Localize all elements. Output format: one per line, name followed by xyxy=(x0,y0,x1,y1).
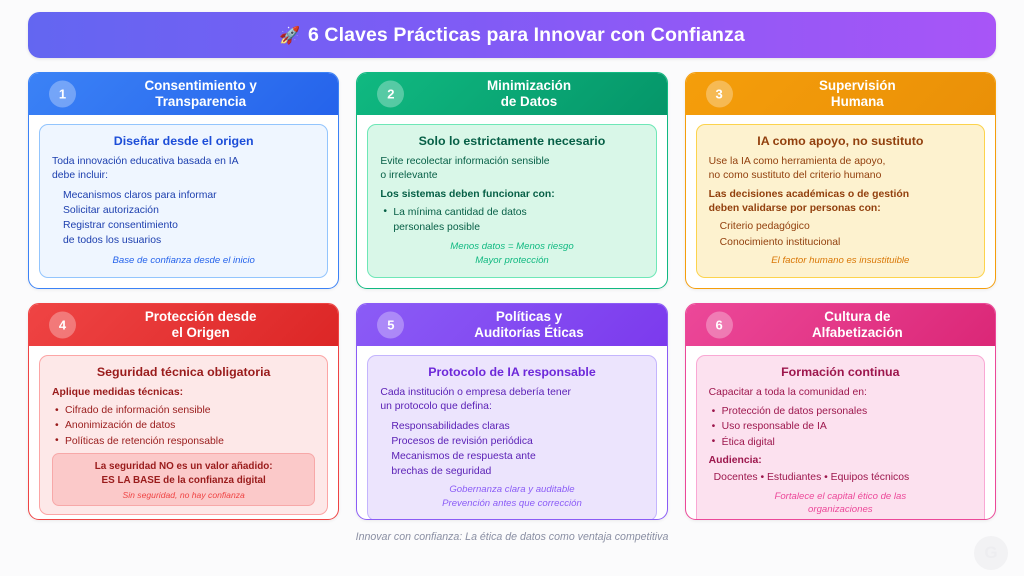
card-header: 1 Consentimiento y Transparencia xyxy=(29,73,338,115)
list-item: Solicitar autorización xyxy=(52,203,315,218)
card-header: 6 Cultura de Alfabetización xyxy=(686,304,995,346)
card-intro-text: Capacitar a toda la comunidad en: xyxy=(709,386,972,400)
card-header: 5 Políticas y Auditorías Éticas xyxy=(357,304,666,346)
list-item: Mecanismos de respuesta ante brechas de … xyxy=(380,449,643,479)
cards-grid: 1 Consentimiento y Transparencia Diseñar… xyxy=(28,72,996,520)
list-item: Criterio pedagógico xyxy=(709,219,972,234)
list-item: Responsabilidades claras xyxy=(380,419,643,434)
card-audience-list: Docentes • Estudiantes • Equipos técnico… xyxy=(709,471,972,485)
card-inner-title: Formación continua xyxy=(709,365,972,380)
card-inner-title: Seguridad técnica obligatoria xyxy=(52,365,315,380)
card-list: Responsabilidades claras Procesos de rev… xyxy=(380,419,643,480)
card-number-badge: 5 xyxy=(377,312,404,339)
card-list: Criterio pedagógico Conocimiento institu… xyxy=(709,219,972,249)
list-item: Registrar consentimiento xyxy=(52,218,315,233)
list-item: Mecanismos claros para informar xyxy=(52,188,315,203)
card-subheading: Aplique medidas técnicas: xyxy=(52,386,315,400)
card-body: Seguridad técnica obligatoria Aplique me… xyxy=(29,346,338,520)
card-subheading-audiencia: Audiencia: xyxy=(709,454,972,468)
slide-canvas: 🚀 6 Claves Prácticas para Innovar con Co… xyxy=(0,0,1024,576)
page-title-text: 6 Claves Prácticas para Innovar con Conf… xyxy=(308,24,745,46)
card-body: Formación continua Capacitar a toda la c… xyxy=(686,346,995,520)
card-inner-title: Protocolo de IA responsable xyxy=(380,365,643,380)
list-item: Procesos de revisión periódica xyxy=(380,434,643,449)
card-number-badge: 2 xyxy=(377,81,404,108)
card-subheading: Las decisiones académicas o de gestión d… xyxy=(709,188,972,217)
card-supervision-humana[interactable]: 3 Supervisión Humana IA como apoyo, no s… xyxy=(685,72,996,289)
card-list: Cifrado de información sensible Anonimiz… xyxy=(52,403,315,449)
list-item: Políticas de retención responsable xyxy=(52,434,315,449)
card-header: 3 Supervisión Humana xyxy=(686,73,995,115)
card-inner-panel: Solo lo estrictamente necesario Evite re… xyxy=(367,124,656,278)
card-title: Cultura de Alfabetización xyxy=(770,309,911,342)
page-title: 🚀 6 Claves Prácticas para Innovar con Co… xyxy=(279,24,745,47)
card-title: Minimización de Datos xyxy=(445,78,579,111)
card-consentimiento-transparencia[interactable]: 1 Consentimiento y Transparencia Diseñar… xyxy=(28,72,339,289)
rocket-icon: 🚀 xyxy=(279,26,300,45)
card-list: Protección de datos personales Uso respo… xyxy=(709,404,972,450)
card-inner-panel: Protocolo de IA responsable Cada institu… xyxy=(367,355,656,520)
card-intro-text: Cada institución o empresa debería tener… xyxy=(380,386,643,415)
card-title: Protección desde el Origen xyxy=(103,309,265,342)
list-item: Anonimización de datos xyxy=(52,418,315,433)
slide-title-bar: 🚀 6 Claves Prácticas para Innovar con Co… xyxy=(28,12,996,58)
card-inner-title: Solo lo estrictamente necesario xyxy=(380,134,643,149)
card-inner-title: IA como apoyo, no sustituto xyxy=(709,134,972,149)
card-list: Mecanismos claros para informar Solicita… xyxy=(52,188,315,249)
list-item: Conocimiento institucional xyxy=(709,235,972,250)
list-item: Cifrado de información sensible xyxy=(52,403,315,418)
list-item: Ética digital xyxy=(709,435,972,450)
card-note: Base de confianza desde el inicio xyxy=(52,254,315,269)
card-number-badge: 1 xyxy=(49,81,76,108)
card-inner-panel: Seguridad técnica obligatoria Aplique me… xyxy=(39,355,328,515)
card-header: 4 Protección desde el Origen xyxy=(29,304,338,346)
card-politicas-auditorias[interactable]: 5 Políticas y Auditorías Éticas Protocol… xyxy=(356,303,667,520)
highlight-note: Sin seguridad, no hay confianza xyxy=(61,490,306,500)
card-inner-panel: IA como apoyo, no sustituto Use la IA co… xyxy=(696,124,985,278)
list-item: de todos los usuarios xyxy=(52,233,315,248)
card-minimizacion-datos[interactable]: 2 Minimización de Datos Solo lo estricta… xyxy=(356,72,667,289)
slide-footer-text: Innovar con confianza: La ética de datos… xyxy=(28,531,996,543)
card-title: Consentimiento y Transparencia xyxy=(102,78,264,111)
card-note: Fortalece el capital ético de las organi… xyxy=(709,490,972,519)
list-item: Protección de datos personales xyxy=(709,404,972,419)
card-intro-text: Toda innovación educativa basada en IA d… xyxy=(52,155,315,184)
card-body: Protocolo de IA responsable Cada institu… xyxy=(357,346,666,520)
card-cultura-alfabetizacion[interactable]: 6 Cultura de Alfabetización Formación co… xyxy=(685,303,996,520)
card-note: El factor humano es insustituible xyxy=(709,254,972,269)
card-body: Diseñar desde el origen Toda innovación … xyxy=(29,115,338,288)
card-note: Gobernanza clara y auditable Prevención … xyxy=(380,483,643,512)
card-intro-text: Evite recolectar información sensible o … xyxy=(380,155,643,184)
card-header: 2 Minimización de Datos xyxy=(357,73,666,115)
card-number-badge: 6 xyxy=(706,312,733,339)
card-body: Solo lo estrictamente necesario Evite re… xyxy=(357,115,666,288)
list-item: La mínima cantidad de datos personales p… xyxy=(380,205,643,235)
card-title: Políticas y Auditorías Éticas xyxy=(432,309,591,342)
card-body: IA como apoyo, no sustituto Use la IA co… xyxy=(686,115,995,288)
card-highlight-box: La seguridad NO es un valor añadido: ES … xyxy=(52,453,315,506)
list-item: Uso responsable de IA xyxy=(709,419,972,434)
card-number-badge: 4 xyxy=(49,312,76,339)
card-number-badge: 3 xyxy=(706,81,733,108)
card-inner-panel: Formación continua Capacitar a toda la c… xyxy=(696,355,985,520)
card-subheading: Los sistemas deben funcionar con: xyxy=(380,188,643,202)
card-list: La mínima cantidad de datos personales p… xyxy=(380,205,643,235)
card-inner-panel: Diseñar desde el origen Toda innovación … xyxy=(39,124,328,278)
card-title: Supervisión Humana xyxy=(777,78,904,111)
card-intro-text: Use la IA como herramienta de apoyo, no … xyxy=(709,155,972,184)
highlight-line-2: ES LA BASE de la confianza digital xyxy=(61,474,306,488)
card-note: Menos datos = Menos riesgo Mayor protecc… xyxy=(380,240,643,269)
highlight-line-1: La seguridad NO es un valor añadido: xyxy=(61,460,306,474)
card-proteccion-origen[interactable]: 4 Protección desde el Origen Seguridad t… xyxy=(28,303,339,520)
card-inner-title: Diseñar desde el origen xyxy=(52,134,315,149)
